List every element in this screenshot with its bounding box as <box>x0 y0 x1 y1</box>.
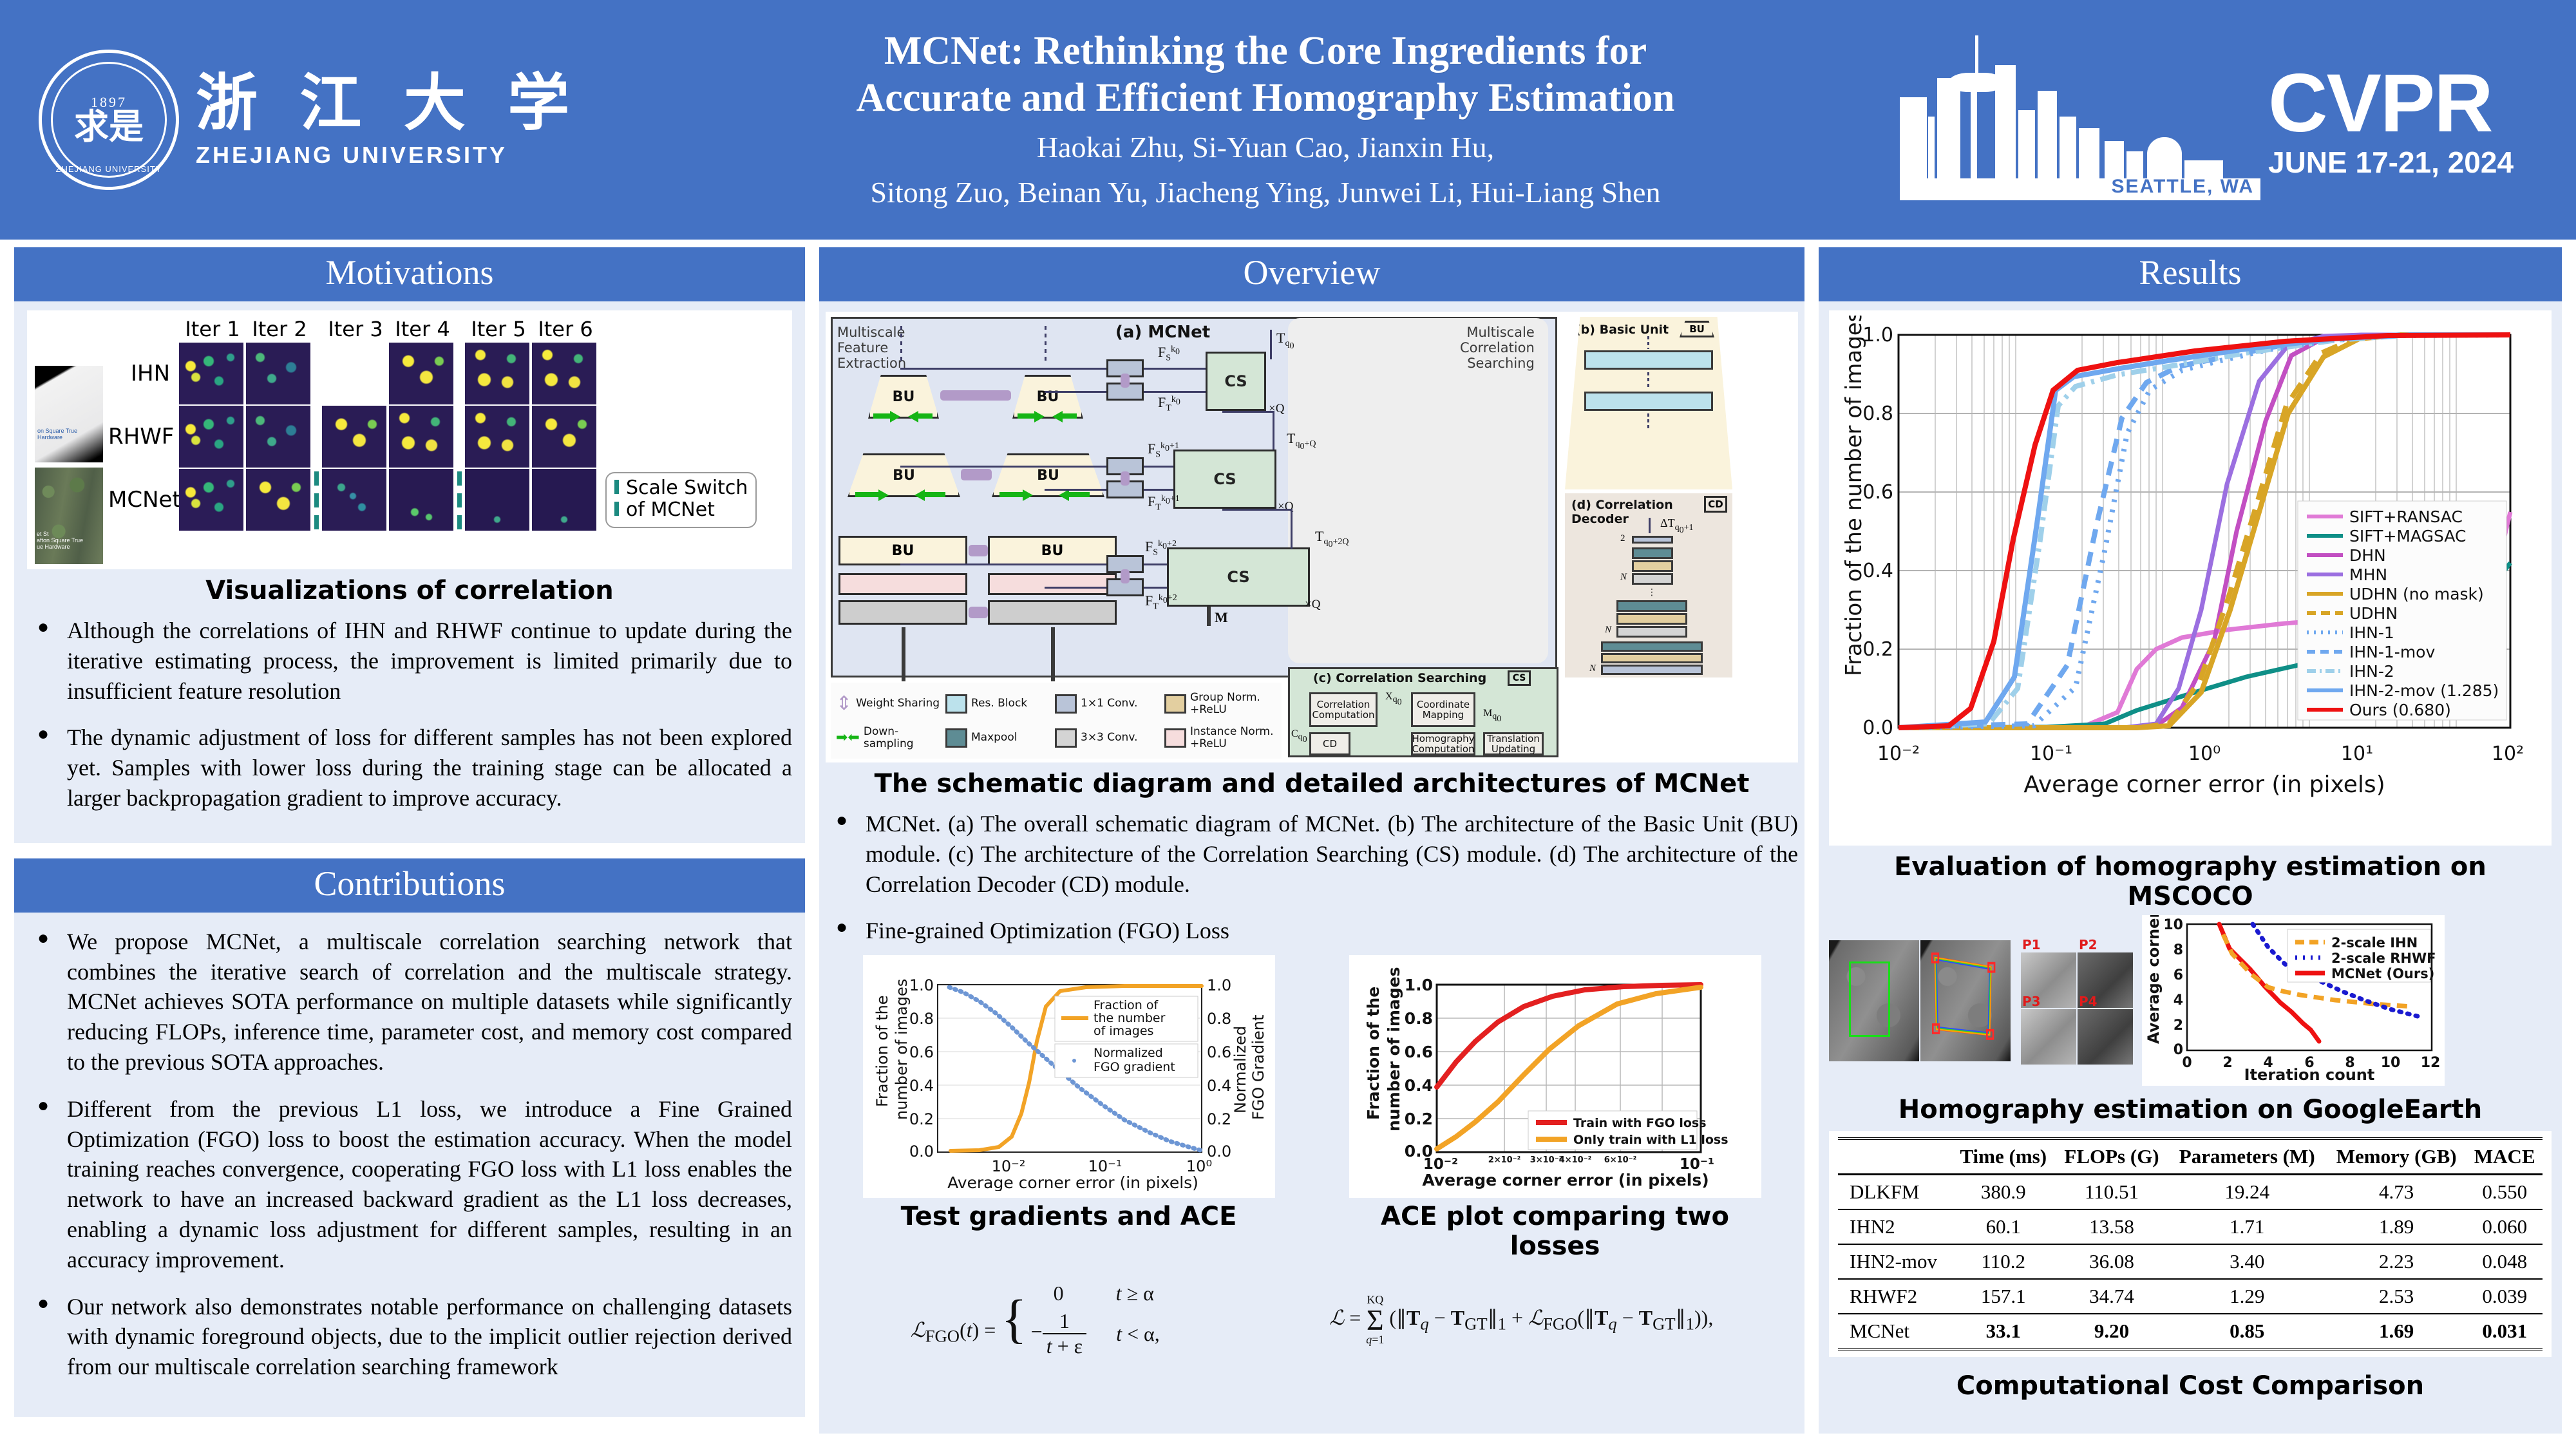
weight-sharing-link-2 <box>961 469 992 480</box>
svg-text:FGO Gradient: FGO Gradient <box>1249 1015 1266 1120</box>
panel-b-title: (b) Basic Unit <box>1575 323 1669 337</box>
mscoco-cdf-chart: 1.00.80.6 0.40.20.0 10⁻²10⁻¹ 10⁰10¹10² A… <box>1829 310 2552 846</box>
cs-edge-label-m: Mq0 <box>1483 708 1501 724</box>
motivations-bullet-1: Although the correlations of IHN and RHW… <box>27 616 792 706</box>
googleearth-caption: Homography estimation on GoogleEarth <box>1829 1095 2552 1124</box>
motivations-heading: Motivations <box>14 247 805 301</box>
scale-switch-legend-line1: Scale Switch <box>626 477 748 499</box>
svg-text:Only train with L1 loss: Only train with L1 loss <box>1573 1133 1728 1147</box>
svg-text:IHN-1-mov: IHN-1-mov <box>2349 643 2435 661</box>
svg-text:of images: of images <box>1094 1024 1153 1038</box>
iter-label-2: Iter 2 <box>246 317 313 341</box>
title-block: MCNet: Rethinking the Core Ingredients f… <box>631 28 1900 212</box>
translation-updating-box: TranslationUpdating <box>1483 732 1544 755</box>
seal-glyph-icon: 求是 <box>74 109 144 144</box>
middle-column: Overview Multiscale Feature Extraction M… <box>819 247 1804 1449</box>
bu-module-3: BU <box>848 453 960 497</box>
svg-text:0.4: 0.4 <box>909 1077 933 1095</box>
bu-module-6: BU <box>988 536 1117 565</box>
cd-channel-label-n2: N <box>1605 625 1611 636</box>
cd-output-label: ΔTq0+1 <box>1660 516 1693 535</box>
svg-text:SIFT+MAGSAC: SIFT+MAGSAC <box>2349 527 2466 545</box>
iter-label-6: Iter 6 <box>532 317 599 341</box>
legend-label-weight-sharing: Weight Sharing <box>856 697 940 710</box>
svg-text:0.6: 0.6 <box>1207 1043 1231 1061</box>
legend-swatch-conv33 <box>1055 728 1077 748</box>
svg-text:2: 2 <box>2222 1055 2232 1071</box>
legend-swatch-instance-norm <box>1164 728 1186 748</box>
motivations-bullet-2: The dynamic adjustment of loss for diffe… <box>27 723 792 813</box>
panel-a-title: (a) MCNet <box>1115 323 1210 343</box>
legend-test-gradients: Fraction of the number of images Normali… <box>1055 996 1198 1077</box>
panel-b-badge: BU <box>1680 321 1714 337</box>
contributions-bullet-1: We propose MCNet, a multiscale correlati… <box>27 927 792 1077</box>
iter-label-5: Iter 5 <box>465 317 532 341</box>
svg-text:DHN: DHN <box>2349 546 2386 565</box>
svg-text:IHN-2-mov (1.285): IHN-2-mov (1.285) <box>2349 681 2499 700</box>
iter-label-1: Iter 1 <box>179 317 246 341</box>
poster-title-line2: Accurate and Efficient Homography Estima… <box>644 75 1887 122</box>
patch-label-p2: P2 <box>2079 937 2098 952</box>
legend-label-conv33: 3×3 Conv. <box>1081 732 1137 744</box>
patch-label-p1: P1 <box>2022 937 2041 952</box>
svg-text:10⁻²: 10⁻² <box>991 1157 1025 1175</box>
svg-text:10¹: 10¹ <box>2341 743 2373 765</box>
method-label-ihn: IHN <box>108 361 179 386</box>
university-name-en: ZHEJIANG UNIVERSITY <box>196 142 580 169</box>
patch-label-p4: P4 <box>2079 994 2098 1009</box>
svg-text:the number: the number <box>1094 1011 1166 1025</box>
panel-c-title: (c) Correlation Searching <box>1313 672 1486 686</box>
overview-bullet-list: MCNet. (a) The overall schematic diagram… <box>826 809 1798 946</box>
svg-text:0.2: 0.2 <box>1862 638 1893 661</box>
scale-switch-marker-2 <box>456 469 462 531</box>
conference-date: JUNE 17-21, 2024 <box>2268 147 2514 177</box>
svg-text:10: 10 <box>2163 917 2183 933</box>
mask-label: M <box>1215 609 1228 626</box>
svg-text:0.2: 0.2 <box>909 1110 933 1128</box>
xaxis-label-test-gradients: Average corner error (in pixels) <box>947 1173 1198 1191</box>
test-gradients-caption: Test gradients and ACE <box>863 1202 1275 1231</box>
svg-text:Fraction of: Fraction of <box>1094 998 1159 1012</box>
table-col-time: Time (ms) <box>1951 1139 2055 1175</box>
yaxis-right-label-test-gradients: Normalized <box>1231 1026 1249 1113</box>
contributions-heading: Contributions <box>14 858 805 913</box>
svg-text:0.6: 0.6 <box>909 1043 933 1061</box>
patch-label-p3: P3 <box>2022 994 2041 1009</box>
svg-text:number of images: number of images <box>893 979 911 1120</box>
yaxis-label-ace-two-losses: Fraction of the <box>1364 987 1383 1120</box>
svg-text:10⁻²: 10⁻² <box>1877 743 1920 765</box>
diagram-legend: ⇕ Weight Sharing Res. Block 1×1 Conv. <box>831 683 1282 759</box>
feature-label-ft-k2: FTk0+2 <box>1145 592 1177 612</box>
svg-text:Normalized: Normalized <box>1094 1046 1163 1060</box>
computational-cost-table: Time (ms) FLOPs (G) Parameters (M) Memor… <box>1838 1137 2543 1350</box>
table-header-row: Time (ms) FLOPs (G) Parameters (M) Memor… <box>1838 1139 2543 1175</box>
svg-text:MCNet (Ours): MCNet (Ours) <box>2331 966 2434 981</box>
svg-text:SIFT+RANSAC: SIFT+RANSAC <box>2349 507 2463 526</box>
svg-text:MHN: MHN <box>2349 565 2387 584</box>
svg-text:3×10⁻²: 3×10⁻² <box>1529 1155 1562 1165</box>
transform-label-t2: Tq0+2Q <box>1315 528 1349 550</box>
panel-c-correlation-searching: (c) Correlation Searching CS Correlation… <box>1288 667 1558 757</box>
svg-text:1.0: 1.0 <box>1862 324 1893 346</box>
test-gradients-chart: 1.00.8 0.60.4 0.20.0 1.00.8 0.60.4 0.20.… <box>863 955 1275 1198</box>
svg-text:1.0: 1.0 <box>909 976 933 994</box>
overview-bullet-1: MCNet. (a) The overall schematic diagram… <box>826 809 1798 899</box>
svg-text:10⁻¹: 10⁻¹ <box>2030 743 2072 765</box>
results-heading: Results <box>1819 247 2562 301</box>
googleearth-results-row: P1 P2 P3 P4 <box>1829 915 2552 1086</box>
legend-label-maxpool: Maxpool <box>971 732 1017 744</box>
svg-text:0.0: 0.0 <box>909 1142 933 1160</box>
cd-channel-label-n1: N <box>1620 572 1627 583</box>
iter-label-4: Iter 4 <box>389 317 456 341</box>
svg-text:UDHN: UDHN <box>2349 604 2398 623</box>
contributions-panel: Contributions We propose MCNet, a multis… <box>14 858 805 1417</box>
overview-figure-caption: The schematic diagram and detailed archi… <box>826 769 1798 799</box>
corner-patch-p4: P4 <box>2078 1009 2133 1065</box>
contributions-bullet-list: We propose MCNet, a multiscale correlati… <box>27 927 792 1382</box>
legend-swatch-conv11 <box>1055 694 1077 714</box>
transform-label-t0: Tq0 <box>1276 330 1294 352</box>
svg-text:Train with FGO loss: Train with FGO loss <box>1573 1116 1707 1130</box>
transform-label-t1: Tq0+Q <box>1287 430 1316 452</box>
table-row: IHN2-mov 110.2 36.08 3.40 2.23 0.048 <box>1838 1244 2543 1279</box>
ace-two-losses-chart: 1.00.8 0.60.4 0.20.0 10⁻²10⁻¹ 2×10⁻²3×10… <box>1349 955 1761 1198</box>
yaxis-label-iteration: Average corner error <box>2145 915 2163 1044</box>
mcnet-architecture-diagram: Multiscale Feature Extraction Multiscale… <box>826 312 1798 762</box>
contributions-bullet-3: Our network also demonstrates notable pe… <box>27 1292 792 1382</box>
svg-text:0.2: 0.2 <box>1404 1110 1432 1128</box>
bu-module-5: BU <box>838 536 967 565</box>
svg-text:FGO gradient: FGO gradient <box>1094 1060 1175 1074</box>
weight-sharing-link-4 <box>969 607 988 618</box>
weight-sharing-link-3 <box>969 545 988 556</box>
author-line2: Sitong Zuo, Beinan Yu, Jiacheng Ying, Ju… <box>644 173 1887 212</box>
svg-text:UDHN (no mask): UDHN (no mask) <box>2349 585 2484 603</box>
legend-label-res-block: Res. Block <box>971 697 1027 710</box>
svg-text:0.8: 0.8 <box>909 1010 933 1028</box>
multiscale-feature-extraction-label: Multiscale Feature Extraction <box>837 325 906 371</box>
contributions-bullet-2: Different from the previous L1 loss, we … <box>27 1094 792 1275</box>
scale-switch-legend: Scale Switch of MCNet <box>605 472 757 528</box>
svg-text:10⁻¹: 10⁻¹ <box>1088 1157 1122 1175</box>
motivations-bullet-list: Although the correlations of IHN and RHW… <box>27 616 792 813</box>
svg-text:2-scale IHN: 2-scale IHN <box>2331 935 2418 951</box>
table-col-flops: FLOPs (G) <box>2055 1139 2168 1175</box>
correlation-computation-box: CorrelationComputation <box>1309 692 1378 727</box>
corner-patch-p3: P3 <box>2021 1009 2076 1065</box>
table-col-memory: Memory (GB) <box>2326 1139 2467 1175</box>
svg-text:IHN-2: IHN-2 <box>2349 662 2394 681</box>
googleearth-image-pair <box>1829 940 2011 1061</box>
svg-text:8: 8 <box>2173 942 2183 958</box>
svg-text:0.8: 0.8 <box>1404 1009 1432 1028</box>
svg-text:6: 6 <box>2173 967 2183 983</box>
xaxis-label-mscoco: Average corner error (in pixels) <box>2023 772 2385 798</box>
iteration-header-row: Iter 1 Iter 2 Iter 3 Iter 4 Iter 5 Iter … <box>179 317 784 341</box>
svg-text:4×10⁻²: 4×10⁻² <box>1558 1155 1591 1165</box>
university-name-cn: 浙 江 大 学 <box>196 71 580 136</box>
svg-text:1.0: 1.0 <box>1404 976 1432 994</box>
scale-switch-legend-line2: of MCNet <box>626 498 715 521</box>
results-panel: Results <box>1819 247 2562 1434</box>
overview-heading: Overview <box>819 247 1804 301</box>
cs-edge-label-c: Cq0 <box>1291 728 1307 745</box>
overview-bullet-2: Fine-grained Optimization (FGO) Loss <box>826 916 1798 946</box>
svg-text:6×10⁻²: 6×10⁻² <box>1604 1155 1636 1165</box>
repeat-label-1: ×Q <box>1269 402 1284 416</box>
ace-two-losses-caption: ACE plot comparing two losses <box>1349 1202 1761 1261</box>
mscoco-caption: Evaluation of homography estimation on M… <box>1829 852 2552 911</box>
weight-sharing-arrow-icon: ⇕ <box>836 694 852 714</box>
motivations-figure-caption: Visualizations of correlation <box>27 576 792 605</box>
svg-text:0.4: 0.4 <box>1404 1076 1432 1095</box>
repeat-label-3: ×Q <box>1305 598 1320 612</box>
svg-text:2: 2 <box>2173 1018 2183 1034</box>
cd-channel-label-2: 2 <box>1620 533 1625 544</box>
ace-two-losses-chart-block: 1.00.8 0.60.4 0.20.0 10⁻²10⁻¹ 2×10⁻²3×10… <box>1349 955 1761 1271</box>
seal-arc-text: ZHEJIANG UNIVERSITY <box>42 164 176 174</box>
method-label-mcnet: MCNet <box>108 487 179 513</box>
svg-text:Ours (0.680): Ours (0.680) <box>2349 701 2451 719</box>
poster-title-line1: MCNet: Rethinking the Core Ingredients f… <box>644 28 1887 75</box>
motivations-panel: Motivations Iter 1 Iter 2 Iter 3 It <box>14 247 805 843</box>
svg-text:10: 10 <box>2381 1055 2401 1071</box>
legend-iteration: 2-scale IHN 2-scale RHWF MCNet (Ours) <box>2287 929 2436 982</box>
xaxis-label-ace-two-losses: Average corner error (in pixels) <box>1422 1171 1709 1189</box>
method-row-ihn: IHN <box>108 343 784 404</box>
method-label-rhwf: RHWF <box>108 424 179 450</box>
corner-patch-grid: P1 P2 P3 P4 <box>2021 952 2133 1065</box>
xaxis-label-iteration: Iteration count <box>2244 1066 2375 1083</box>
cs-module-2: CS <box>1173 450 1276 509</box>
correlation-visualization-figure: Iter 1 Iter 2 Iter 3 Iter 4 Iter 5 Iter … <box>27 310 792 569</box>
university-logo-block: 1897 求是 ZHEJIANG UNIVERSITY 浙 江 大 学 ZHEJ… <box>0 0 631 240</box>
poster-header: 1897 求是 ZHEJIANG UNIVERSITY 浙 江 大 学 ZHEJ… <box>0 0 2576 240</box>
svg-text:10²: 10² <box>2492 743 2524 765</box>
cost-caption: Computational Cost Comparison <box>1829 1371 2552 1401</box>
green-bounding-box <box>1849 961 1890 1037</box>
author-line1: Haokai Zhu, Si-Yuan Cao, Jianxin Hu, <box>644 128 1887 167</box>
svg-text:4: 4 <box>2173 992 2183 1009</box>
legend-label-group-norm: Group Norm. +ReLU <box>1190 692 1260 715</box>
feature-label-fs-k0: FSk0 <box>1158 344 1180 363</box>
total-loss-formula: ℒ = KQ Σ q=1 (∥Tq − TGT∥1 + ℒFGO(∥Tq − T… <box>1329 1293 1713 1347</box>
table-row: MCNet 33.1 9.20 0.85 1.69 0.031 <box>1838 1314 2543 1349</box>
overview-panel: Overview Multiscale Feature Extraction M… <box>819 247 1804 1434</box>
cs-edge-label-x: Xq0 <box>1385 691 1402 708</box>
iter-label-3: Iter 3 <box>322 317 389 341</box>
legend-swatch-maxpool <box>945 728 967 748</box>
source-image-thumbnail <box>35 366 103 462</box>
seattle-skyline-icon: SEATTLE, WA <box>1900 39 2260 200</box>
svg-text:10⁰: 10⁰ <box>1186 1157 1211 1175</box>
left-column: Motivations Iter 1 Iter 2 Iter 3 It <box>14 247 805 1432</box>
svg-text:0.8: 0.8 <box>1862 402 1893 425</box>
googleearth-warped-image <box>1829 940 1919 1061</box>
multiscale-correlation-searching-label: Multiscale Correlation Searching <box>1460 325 1535 371</box>
table-col-mace: MACE <box>2467 1139 2543 1175</box>
res-block-1 <box>1584 350 1713 370</box>
svg-text:2-scale RHWF: 2-scale RHWF <box>2331 951 2436 966</box>
feature-label-ft-k0: FTk0 <box>1158 394 1180 413</box>
cd-box-in-cs: CD <box>1309 732 1350 755</box>
panel-b-basic-unit: (b) Basic Unit BU <box>1565 317 1732 489</box>
feature-label-ft-k1: FTk0+1 <box>1148 493 1180 513</box>
svg-text:0.6: 0.6 <box>1404 1043 1432 1061</box>
table-row: DLKFM 380.9 110.51 19.24 4.73 0.550 <box>1838 1175 2543 1210</box>
cvpr-logo-block: SEATTLE, WA CVPR JUNE 17-21, 2024 <box>1900 0 2576 240</box>
method-row-mcnet: MCNet Scale Switch of MCNet <box>108 469 784 531</box>
legend-label-conv11: 1×1 Conv. <box>1081 697 1137 710</box>
target-image-thumbnail <box>35 468 103 564</box>
table-col-0 <box>1838 1139 1951 1175</box>
corner-overlay <box>1929 952 1998 1046</box>
svg-text:10⁰: 10⁰ <box>2188 743 2221 765</box>
homography-computation-box: HomographyComputation <box>1411 732 1475 755</box>
table-row: RHWF2 157.1 34.74 1.29 2.53 0.039 <box>1838 1279 2543 1314</box>
googleearth-target-image <box>1920 940 2011 1061</box>
svg-text:0.6: 0.6 <box>1862 481 1893 504</box>
table-col-parameters: Parameters (M) <box>2168 1139 2326 1175</box>
legend-swatch-res-block <box>945 694 967 714</box>
table-row: IHN2 60.1 13.58 1.71 1.89 0.060 <box>1838 1209 2543 1244</box>
legend-label-instance-norm: Instance Norm. +ReLU <box>1190 726 1273 750</box>
scale-switch-marker-1 <box>313 469 319 531</box>
method-row-rhwf: RHWF <box>108 406 784 468</box>
panel-d-badge: CD <box>1704 496 1727 513</box>
feature-label-fs-k2: FSk0+2 <box>1145 538 1177 558</box>
feature-label-fs-k1: FSk0+1 <box>1148 440 1179 460</box>
weight-sharing-link-1 <box>940 390 1011 401</box>
svg-text:number of images: number of images <box>1385 967 1403 1132</box>
conference-location: SEATTLE, WA <box>2112 176 2254 198</box>
svg-text:0.8: 0.8 <box>1207 1010 1231 1028</box>
yaxis-label-test-gradients: Fraction of the <box>873 996 891 1108</box>
cs-module-1: CS <box>1206 352 1266 411</box>
yaxis-label-mscoco: Fraction of the number of images <box>1841 316 1867 676</box>
fgo-loss-formula: ℒFGO(t) = { 0t ≥ α −1t + ε t < α, <box>911 1278 1160 1362</box>
panel-d-correlation-decoder: (d) Correlation Decoder CD ΔTq0+1 2 N ⋮ <box>1565 493 1732 677</box>
svg-text:IHN-1: IHN-1 <box>2349 623 2394 642</box>
svg-text:0.0: 0.0 <box>1862 717 1893 739</box>
cs-module-3: CS <box>1167 547 1310 607</box>
svg-text:12: 12 <box>2421 1055 2441 1071</box>
legend-label-downsampling: Down- sampling <box>864 726 914 750</box>
cd-channel-label-n3: N <box>1589 663 1596 674</box>
svg-text:2×10⁻²: 2×10⁻² <box>1488 1155 1520 1165</box>
svg-text:1.0: 1.0 <box>1207 976 1231 994</box>
coordinate-mapping-box: CoordinateMapping <box>1411 692 1475 727</box>
panel-c-badge: CS <box>1508 670 1531 686</box>
res-block-2 <box>1584 392 1713 411</box>
right-column: Results <box>1819 247 2562 1449</box>
iteration-count-chart: 1086 420 024 6810 12 Iteration count Ave… <box>2142 915 2445 1086</box>
svg-text:0.4: 0.4 <box>1207 1077 1231 1095</box>
legend-swatch-group-norm <box>1164 694 1186 714</box>
downsampling-arrow-icon: ➡⬅ <box>836 730 860 746</box>
svg-text:0.4: 0.4 <box>1862 560 1893 582</box>
svg-text:0.2: 0.2 <box>1207 1110 1231 1128</box>
conference-name: CVPR <box>2268 62 2514 145</box>
zhejiang-university-seal-icon: 1897 求是 ZHEJIANG UNIVERSITY <box>39 50 179 190</box>
legend-mscoco: SIFT+RANSAC SIFT+MAGSAC DHN MHN UDHN (no… <box>2298 501 2506 720</box>
test-gradients-chart-block: 1.00.8 0.60.4 0.20.0 1.00.8 0.60.4 0.20.… <box>863 955 1275 1242</box>
svg-text:0: 0 <box>2182 1055 2192 1071</box>
input-thumbnails <box>35 317 104 564</box>
